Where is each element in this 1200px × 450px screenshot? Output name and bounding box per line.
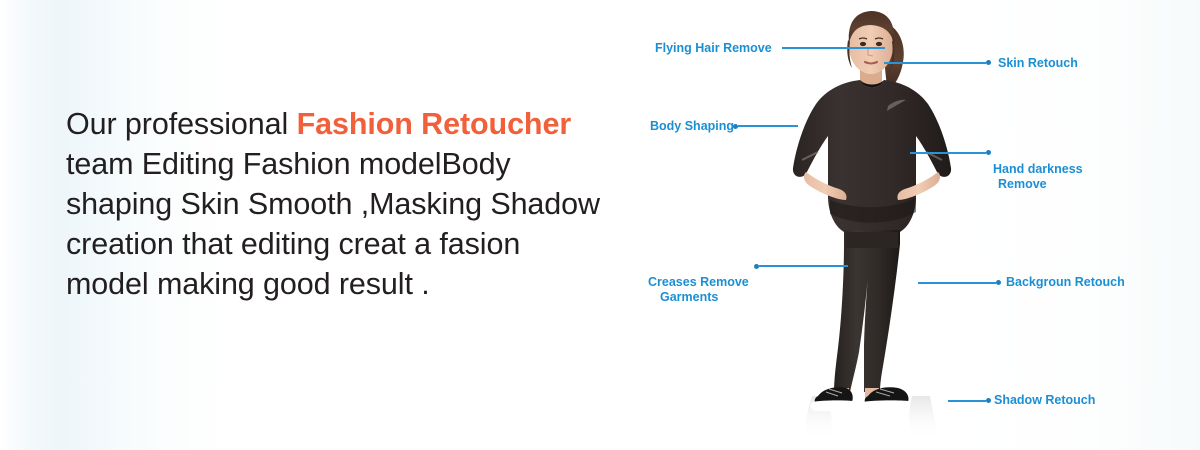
copy-body: team Editing Fashion modelBody shaping S…: [66, 147, 600, 301]
promo-copy: Our professional Fashion Retoucher team …: [66, 104, 606, 304]
callout-hand-darkness-remove: Hand darkness Remove: [993, 146, 1083, 208]
leader-dot-shadow-retouch: [986, 398, 991, 403]
callout-skin-retouch: Skin Retouch: [998, 56, 1078, 72]
callout-creases-line1: Creases Remove: [648, 275, 749, 289]
leader-line-body-shaping: [738, 125, 798, 127]
copy-intro: Our professional: [66, 107, 297, 141]
model-photo: [760, 0, 1000, 450]
leader-dot-backgroun-retouch: [996, 280, 1001, 285]
callout-hand-darkness-line1: Hand darkness: [993, 162, 1083, 176]
callout-hand-darkness-line2: Remove: [993, 177, 1083, 193]
leader-dot-hand-darkness-remove: [986, 150, 991, 155]
leader-line-shadow-retouch: [948, 400, 986, 402]
leader-line-flying-hair-remove: [782, 47, 885, 49]
callout-flying-hair-remove: Flying Hair Remove: [655, 41, 772, 57]
callout-creases-remove-garments: Creases Remove Garments: [648, 259, 749, 321]
promo-banner: Our professional Fashion Retoucher team …: [0, 0, 1200, 450]
callout-shadow-retouch: Shadow Retouch: [994, 393, 1095, 409]
leader-dot-skin-retouch: [986, 60, 991, 65]
leader-line-backgroun-retouch: [918, 282, 996, 284]
leader-line-creases-remove: [759, 265, 848, 267]
callout-creases-line2: Garments: [648, 290, 749, 306]
callout-body-shaping: Body Shaping: [650, 119, 734, 135]
leader-line-skin-retouch: [884, 62, 986, 64]
left-sneaker: [810, 387, 853, 411]
leggings: [834, 230, 900, 392]
copy-highlight: Fashion Retoucher: [297, 107, 572, 141]
leader-line-hand-darkness-remove: [910, 152, 986, 154]
callout-backgroun-retouch: Backgroun Retouch: [1006, 275, 1125, 291]
